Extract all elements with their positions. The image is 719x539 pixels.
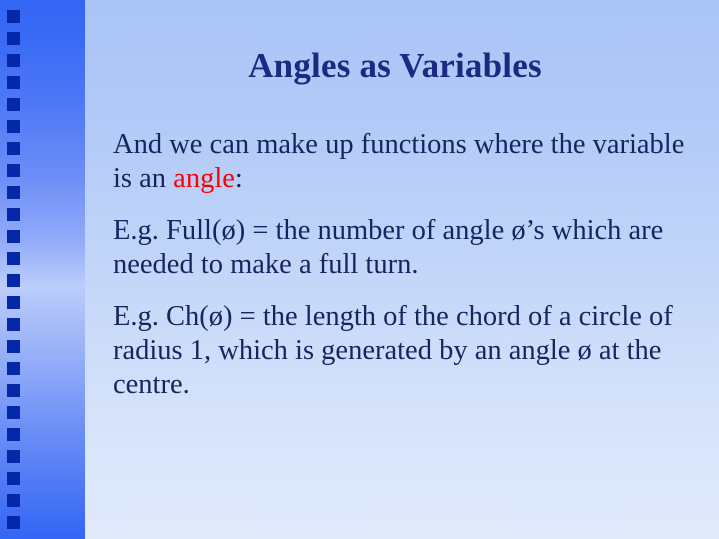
angle-highlight: angle: [173, 163, 235, 194]
slide-body: And we can make up functions where the v…: [113, 128, 701, 402]
band-square: [7, 230, 20, 243]
body-paragraph-intro: And we can make up functions where the v…: [113, 128, 701, 196]
body-paragraph-chord-example: E.g. Ch(ø) = the length of the chord of …: [113, 300, 701, 402]
decorative-side-band: [0, 0, 85, 539]
band-square: [7, 296, 20, 309]
band-square: [7, 340, 20, 353]
band-square: [7, 164, 20, 177]
band-square: [7, 472, 20, 485]
band-square: [7, 54, 20, 67]
body-paragraph-full-example: E.g. Full(ø) = the number of angle ø’s w…: [113, 214, 701, 282]
band-square: [7, 428, 20, 441]
band-square: [7, 208, 20, 221]
band-square: [7, 32, 20, 45]
band-square: [7, 362, 20, 375]
band-square: [7, 252, 20, 265]
band-square: [7, 406, 20, 419]
band-square: [7, 120, 20, 133]
band-square: [7, 318, 20, 331]
band-square: [7, 98, 20, 111]
intro-text-after: :: [235, 163, 243, 194]
band-square: [7, 76, 20, 89]
band-square: [7, 450, 20, 463]
band-square: [7, 186, 20, 199]
band-square: [7, 274, 20, 287]
band-square: [7, 494, 20, 507]
slide-canvas: Angles as Variables And we can make up f…: [0, 0, 719, 539]
slide-title: Angles as Variables: [85, 45, 705, 87]
band-square: [7, 10, 20, 23]
band-square: [7, 142, 20, 155]
band-square: [7, 384, 20, 397]
band-square: [7, 516, 20, 529]
